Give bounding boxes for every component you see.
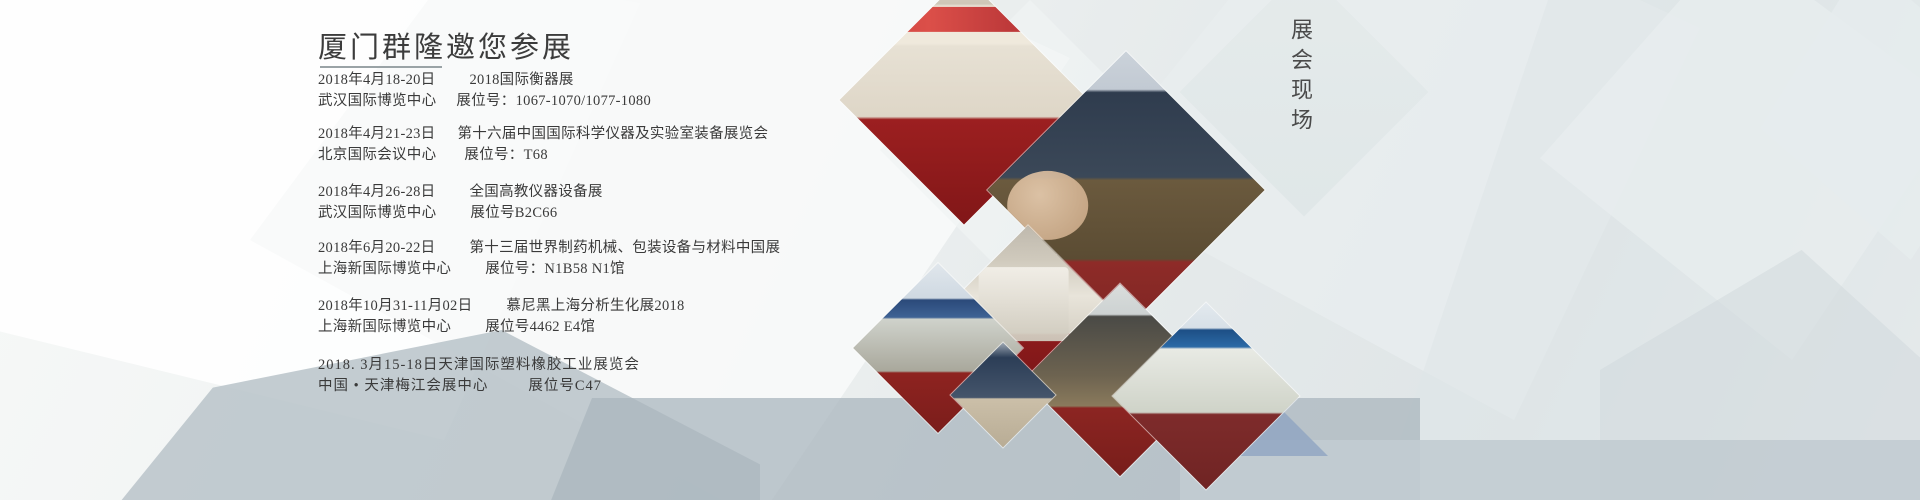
event-date: 2018年4月21-23日 bbox=[318, 126, 435, 142]
event-name: 慕尼黑上海分析生化展2018 bbox=[506, 298, 684, 314]
event-entry-5: 2018年10月31-11月02日慕尼黑上海分析生化展2018 上海新国际博览中… bbox=[318, 296, 685, 338]
event-entry-3: 2018年4月26-28日全国高教仪器设备展 武汉国际博览中心展位号B2C66 bbox=[318, 182, 603, 224]
event-venue: 武汉国际博览中心 bbox=[318, 205, 436, 221]
event-booth: 展位号C47 bbox=[528, 378, 602, 394]
event-name: 第十六届中国国际科学仪器及实验室装备展览会 bbox=[457, 126, 768, 142]
event-name: 2018国际衡器展 bbox=[469, 72, 573, 88]
event-date: 2018年10月31-11月02日 bbox=[318, 298, 472, 314]
event-name: 第十三届世界制药机械、包装设备与材料中国展 bbox=[469, 240, 780, 256]
event-entry-2: 2018年4月21-23日第十六届中国国际科学仪器及实验室装备展览会 北京国际会… bbox=[318, 124, 768, 166]
photo-collage bbox=[840, 0, 1300, 500]
page-title: 厦门群隆邀您参展 bbox=[318, 24, 574, 66]
banner-root: 厦门群隆邀您参展 2018年4月18-20日2018国际衡器展 武汉国际博览中心… bbox=[0, 0, 1920, 500]
event-name: 全国高教仪器设备展 bbox=[469, 184, 602, 200]
event-entry-1: 2018年4月18-20日2018国际衡器展 武汉国际博览中心展位号：1067-… bbox=[318, 70, 651, 112]
event-booth: 展位号B2C66 bbox=[470, 205, 557, 221]
event-venue: 北京国际会议中心 bbox=[318, 147, 436, 163]
event-venue: 中国 • 天津梅江会展中心 bbox=[318, 378, 488, 394]
event-entry-6: 2018. 3月15-18日天津国际塑料橡胶工业展览会 中国 • 天津梅江会展中… bbox=[318, 355, 640, 397]
title-underline bbox=[320, 66, 442, 68]
event-entry-4: 2018年6月20-22日第十三届世界制药机械、包装设备与材料中国展 上海新国际… bbox=[318, 238, 780, 280]
event-date: 2018年6月20-22日 bbox=[318, 240, 435, 256]
event-booth: 展位号：T68 bbox=[464, 147, 547, 163]
event-booth: 展位号4462 E4馆 bbox=[485, 319, 595, 335]
event-date: 2018年4月26-28日 bbox=[318, 184, 435, 200]
event-booth: 展位号：N1B58 N1馆 bbox=[485, 261, 625, 277]
event-venue: 武汉国际博览中心 bbox=[318, 93, 436, 109]
event-venue: 上海新国际博览中心 bbox=[318, 261, 451, 277]
event-venue: 上海新国际博览中心 bbox=[318, 319, 451, 335]
events-panel: 厦门群隆邀您参展 2018年4月18-20日2018国际衡器展 武汉国际博览中心… bbox=[0, 0, 900, 500]
event-booth: 展位号：1067-1070/1077-1080 bbox=[456, 93, 651, 109]
event-date: 2018年4月18-20日 bbox=[318, 72, 435, 88]
event-date: 2018. 3月15-18日天津国际塑料橡胶工业展览会 bbox=[318, 357, 640, 373]
